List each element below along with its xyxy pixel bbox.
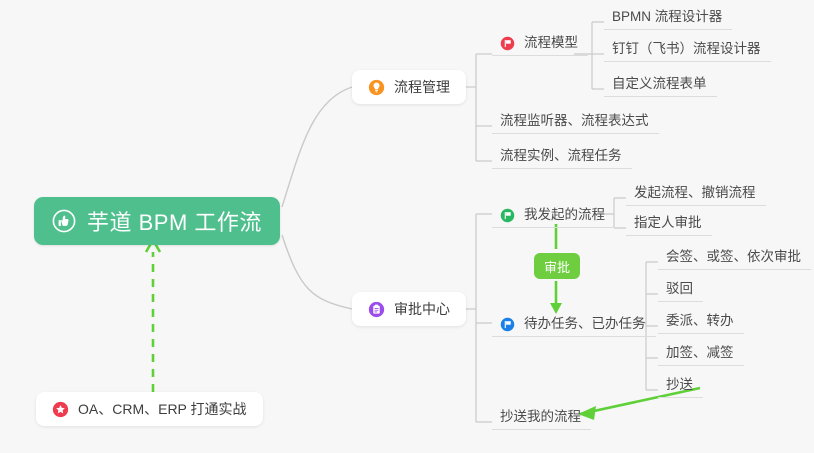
node-assignee-approval[interactable]: 指定人审批 bbox=[626, 206, 712, 236]
node-label: 待办任务、已办任务 bbox=[524, 312, 646, 332]
flag-icon bbox=[500, 208, 515, 223]
node-label: 抄送 bbox=[666, 373, 693, 393]
root-node[interactable]: 芋道 BPM 工作流 bbox=[34, 197, 280, 245]
node-reject[interactable]: 驳回 bbox=[658, 272, 703, 302]
badge-label: 审批 bbox=[544, 257, 570, 276]
node-cc-to-me[interactable]: 抄送我的流程 bbox=[492, 400, 591, 430]
wire-root-to-process-management bbox=[282, 87, 352, 207]
node-label: 驳回 bbox=[666, 277, 693, 297]
node-label: 抄送我的流程 bbox=[500, 405, 581, 425]
node-label: 委派、转办 bbox=[666, 309, 734, 329]
node-dingtalk-designer[interactable]: 钉钉（飞书）流程设计器 bbox=[604, 32, 771, 62]
node-listener-expression[interactable]: 流程监听器、流程表达式 bbox=[492, 104, 659, 134]
thumbs-up-icon bbox=[52, 209, 76, 233]
branch-process-management[interactable]: 流程管理 bbox=[352, 70, 466, 104]
node-countersign[interactable]: 会签、或签、依次审批 bbox=[658, 240, 811, 270]
node-label: 流程监听器、流程表达式 bbox=[500, 109, 649, 129]
node-custom-form[interactable]: 自定义流程表单 bbox=[604, 67, 717, 97]
node-instance-task[interactable]: 流程实例、流程任务 bbox=[492, 139, 632, 169]
node-label: 自定义流程表单 bbox=[612, 72, 707, 92]
approve-badge: 审批 bbox=[534, 253, 580, 279]
node-label: BPMN 流程设计器 bbox=[612, 5, 722, 25]
node-label: 流程实例、流程任务 bbox=[500, 144, 622, 164]
node-bpmn-designer[interactable]: BPMN 流程设计器 bbox=[604, 0, 732, 30]
callout-label: OA、CRM、ERP 打通实战 bbox=[78, 399, 247, 419]
clipboard-icon bbox=[368, 301, 385, 318]
integration-callout[interactable]: OA、CRM、ERP 打通实战 bbox=[36, 392, 263, 426]
node-label: 指定人审批 bbox=[634, 211, 702, 231]
wire-root-to-approval-center bbox=[282, 235, 352, 309]
lightbulb-icon bbox=[368, 79, 385, 96]
node-delegate-transfer[interactable]: 委派、转办 bbox=[658, 304, 744, 334]
branch-label: 审批中心 bbox=[394, 299, 450, 319]
node-start-cancel-process[interactable]: 发起流程、撤销流程 bbox=[626, 176, 766, 206]
flag-icon bbox=[500, 317, 515, 332]
node-label: 加签、减签 bbox=[666, 341, 734, 361]
root-label: 芋道 BPM 工作流 bbox=[87, 205, 262, 237]
node-label: 我发起的流程 bbox=[524, 203, 605, 223]
flag-icon bbox=[500, 36, 515, 51]
node-my-started-processes[interactable]: 我发起的流程 bbox=[492, 198, 615, 228]
star-icon bbox=[52, 401, 69, 418]
node-carbon-copy[interactable]: 抄送 bbox=[658, 368, 703, 398]
branch-approval-center[interactable]: 审批中心 bbox=[352, 292, 466, 326]
node-add-remove-sign[interactable]: 加签、减签 bbox=[658, 336, 744, 366]
node-todo-done-tasks[interactable]: 待办任务、已办任务 bbox=[492, 307, 656, 337]
node-label: 会签、或签、依次审批 bbox=[666, 245, 801, 265]
node-label: 钉钉（飞书）流程设计器 bbox=[612, 37, 761, 57]
node-label: 流程模型 bbox=[524, 31, 578, 51]
mindmap-canvas: 芋道 BPM 工作流 流程管理 流程模型 BPMN 流程设计器 钉钉（飞书 bbox=[0, 0, 814, 453]
node-process-model[interactable]: 流程模型 bbox=[492, 26, 588, 56]
node-label: 发起流程、撤销流程 bbox=[634, 181, 756, 201]
branch-label: 流程管理 bbox=[394, 77, 450, 97]
